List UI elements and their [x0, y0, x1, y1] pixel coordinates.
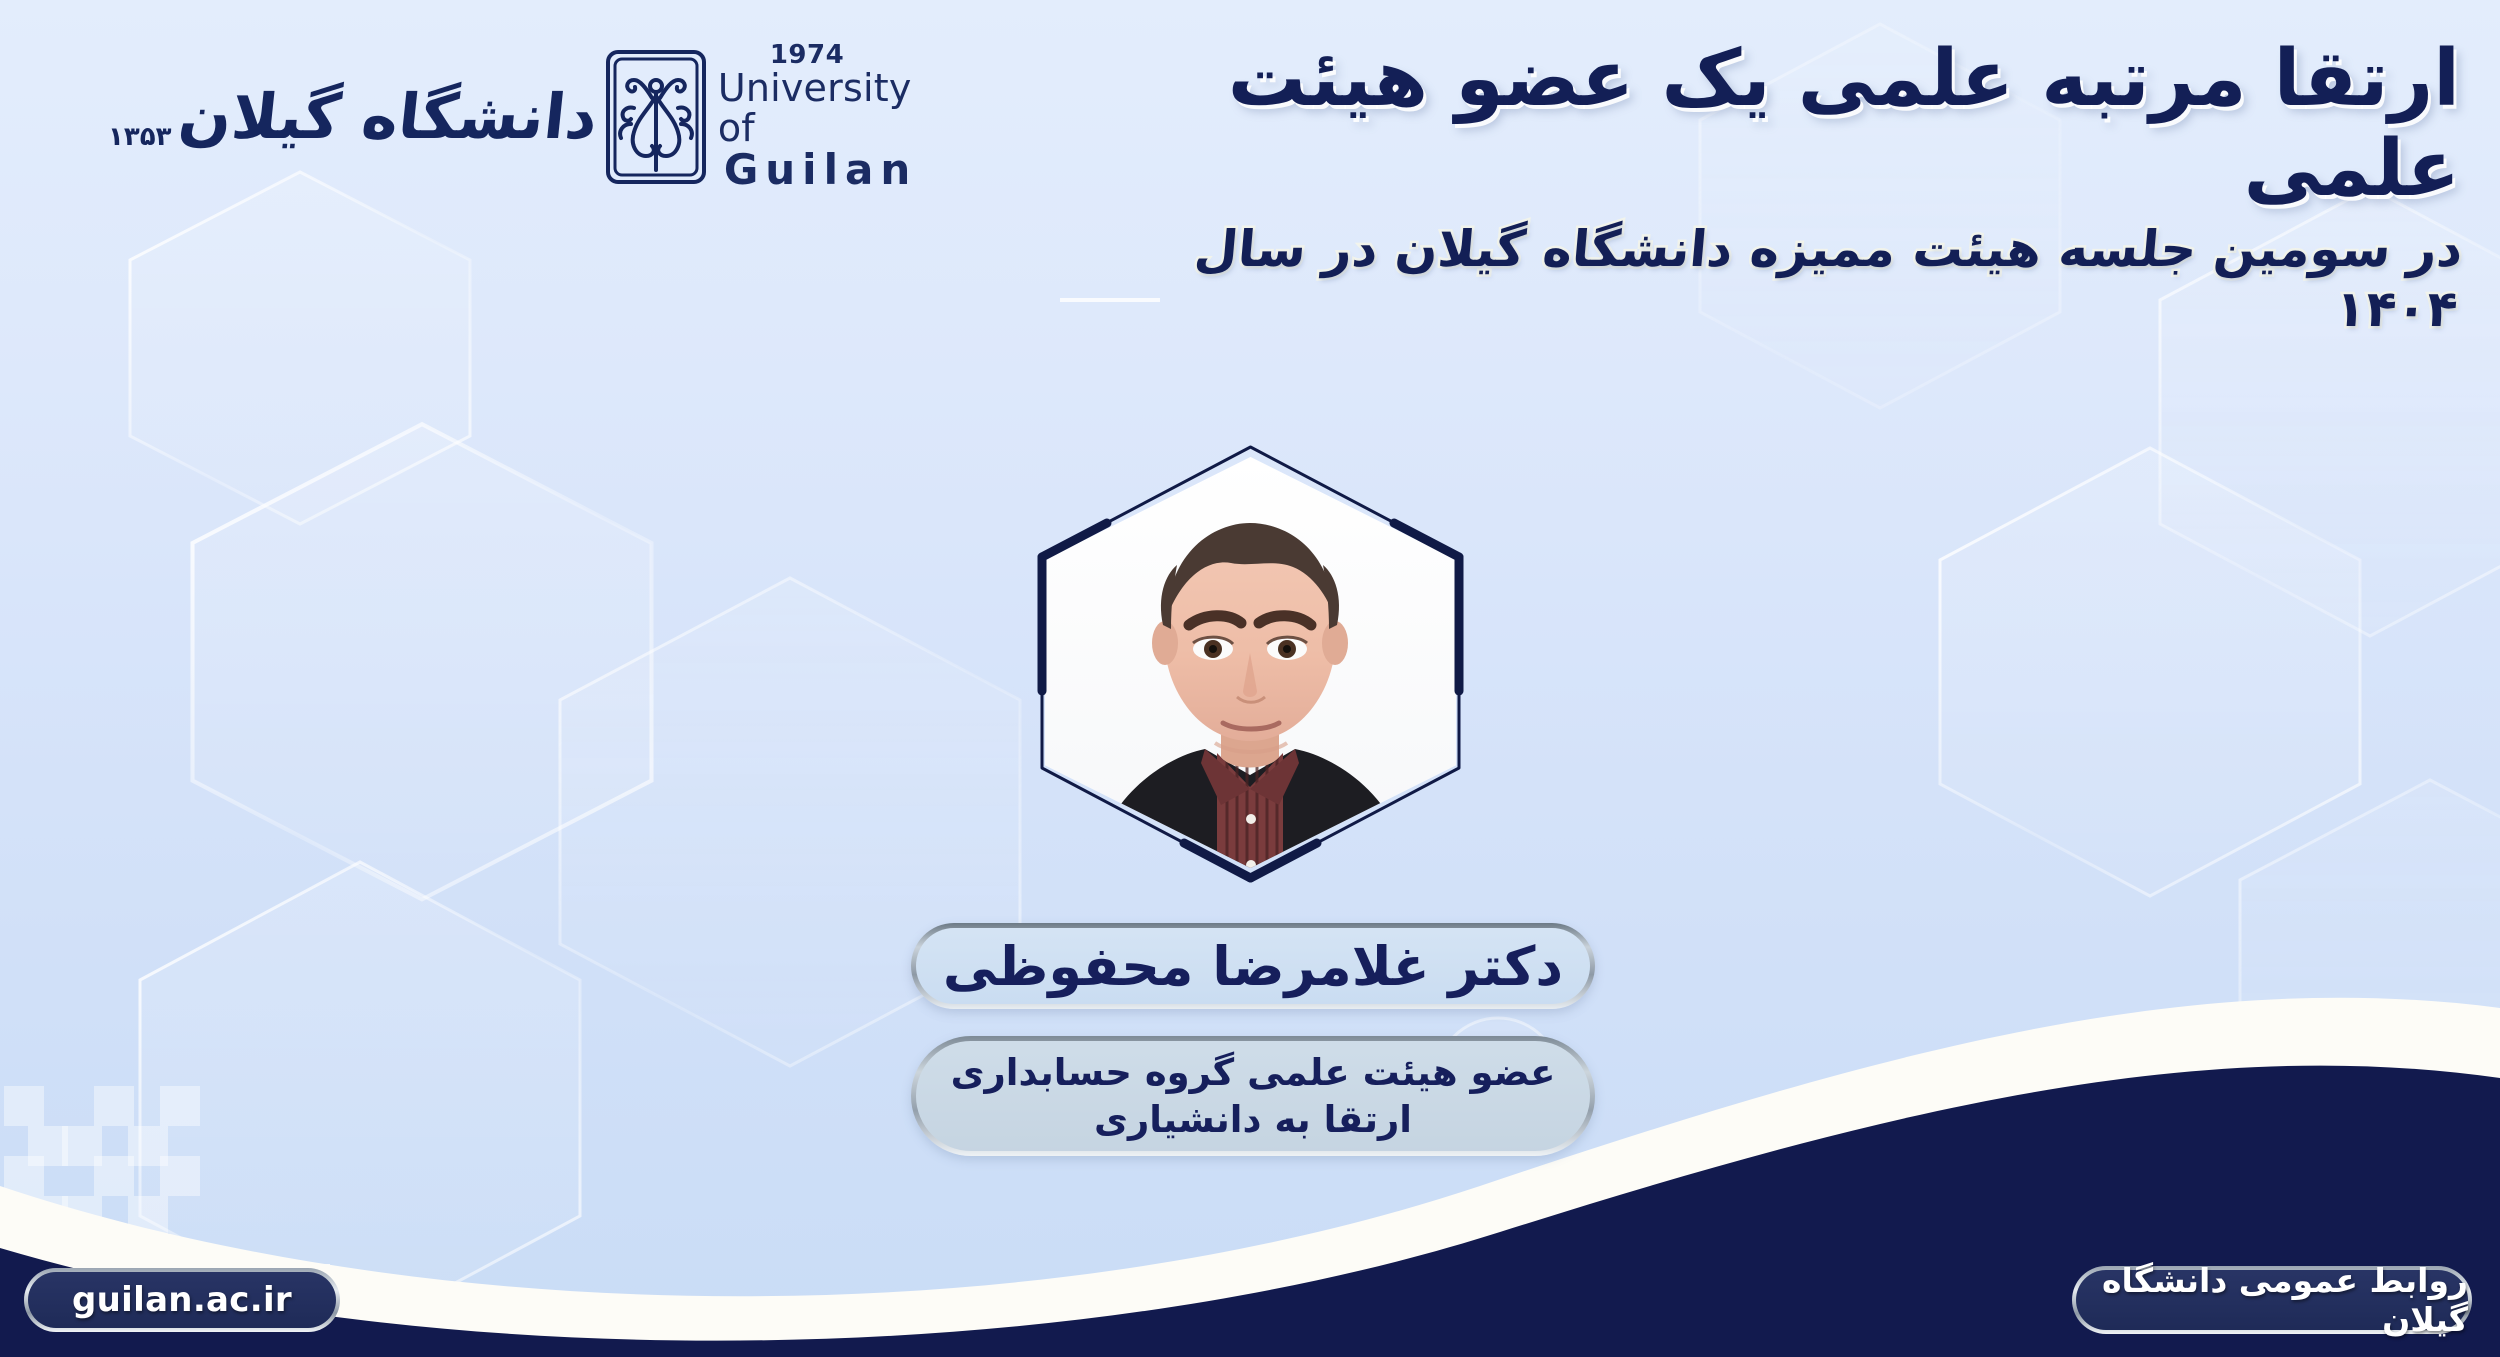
public-relations-pill: روابط عمومی دانشگاه گیلان: [2072, 1266, 2472, 1334]
square-grid-left: [4, 1086, 200, 1276]
logo-persian-year: ۱۳۵۳: [108, 122, 171, 152]
person-name-badge: دکتر غلامرضا محفوظی: [911, 923, 1595, 1009]
page-title: ارتقا مرتبه علمی یک عضو هیئت علمی: [1120, 34, 2460, 215]
hexagon-pattern-left: [130, 172, 1020, 1334]
square-grid-right: [2164, 1004, 2430, 1094]
university-logo: دانشگاه گیلان ۱۳۵۳ 1974 University of: [108, 42, 808, 192]
logo-english-year: 1974: [770, 42, 917, 69]
header-text: ارتقا مرتبه علمی یک عضو هیئت علمی در سوم…: [1120, 34, 2460, 339]
logo-english: 1974 University of Guilan: [718, 42, 917, 192]
logo-persian-name: دانشگاه گیلان: [176, 86, 601, 148]
guilan-emblem-icon: [604, 48, 708, 186]
public-relations-label: روابط عمومی دانشگاه گیلان: [2076, 1261, 2468, 1339]
hexagon-outline: [1029, 441, 1472, 884]
person-role-line-2: ارتقا به دانشیاری: [1094, 1096, 1412, 1143]
poster-canvas: دانشگاه گیلان ۱۳۵۳ 1974 University of: [0, 0, 2500, 1357]
person-role-badge: عضو هیئت علمی گروه حسابداری ارتقا به دان…: [911, 1036, 1595, 1156]
website-pill[interactable]: guilan.ac.ir: [24, 1268, 340, 1332]
logo-english-line1: University of: [718, 69, 917, 148]
website-label: guilan.ac.ir: [72, 1280, 292, 1320]
logo-persian: دانشگاه گیلان ۱۳۵۳: [108, 82, 598, 152]
person-name: دکتر غلامرضا محفوظی: [943, 935, 1563, 998]
logo-english-line2: Guilan: [724, 148, 917, 192]
portrait-frame: [1029, 441, 1472, 884]
person-role-line-1: عضو هیئت علمی گروه حسابداری: [951, 1049, 1556, 1096]
page-subtitle: در سومین جلسه هیئت ممیزه دانشگاه گیلان د…: [1115, 219, 2465, 339]
